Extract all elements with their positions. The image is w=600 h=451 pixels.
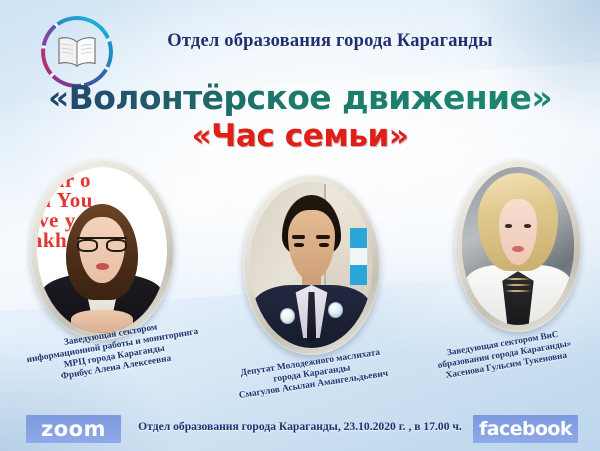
speaker-photo-2 [243, 175, 380, 355]
facebook-logo[interactable]: facebook [473, 415, 578, 443]
speaker-photo-1: near o th You ive y c akh N [30, 160, 174, 340]
speaker-photo-1-inner: near o th You ive y c akh N [37, 167, 167, 333]
speaker-caption-3: Заведующая сектором ВиС образования горо… [411, 323, 599, 386]
facebook-logo-label: facebook [479, 418, 572, 440]
speaker-photo-3-inner [462, 167, 574, 325]
sub-title: «Час семьи» [0, 118, 600, 154]
main-title: «Волонтёрское движение» [0, 78, 600, 117]
footer-bar: zoom Отдел образования города Караганды,… [0, 409, 600, 451]
speaker-photo-3 [455, 160, 581, 332]
speaker-photo-2-inner [250, 182, 373, 348]
organization-title: Отдел образования города Караганды [0, 31, 600, 52]
poster-canvas: Отдел образования города Караганды «Воло… [0, 0, 600, 451]
